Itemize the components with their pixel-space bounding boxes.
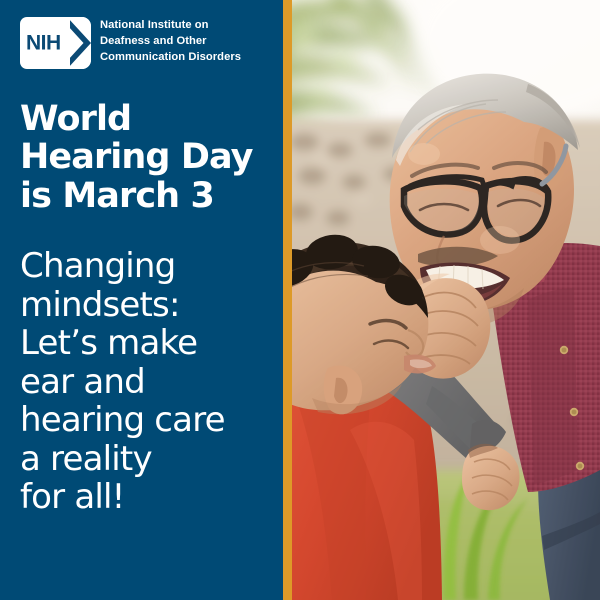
page-title: World Hearing Day is March 3: [20, 100, 270, 215]
nih-logo-mark: NIH: [20, 17, 91, 69]
nih-nidcd-logo: NIH National Institute on Deafness and O…: [20, 17, 241, 69]
campaign-photo: [292, 0, 600, 600]
world-hearing-day-poster: NIH National Institute on Deafness and O…: [0, 0, 600, 600]
institute-name: National Institute on Deafness and Other…: [100, 17, 241, 66]
nih-acronym-text: NIH: [26, 33, 61, 54]
photo-illustration: [292, 0, 600, 600]
campaign-message: Changing mindsets: Let’s make ear and he…: [20, 247, 272, 517]
nih-chevron-icon: [66, 17, 91, 69]
left-text-panel: NIH National Institute on Deafness and O…: [0, 0, 283, 600]
gold-vertical-divider: [283, 0, 292, 600]
